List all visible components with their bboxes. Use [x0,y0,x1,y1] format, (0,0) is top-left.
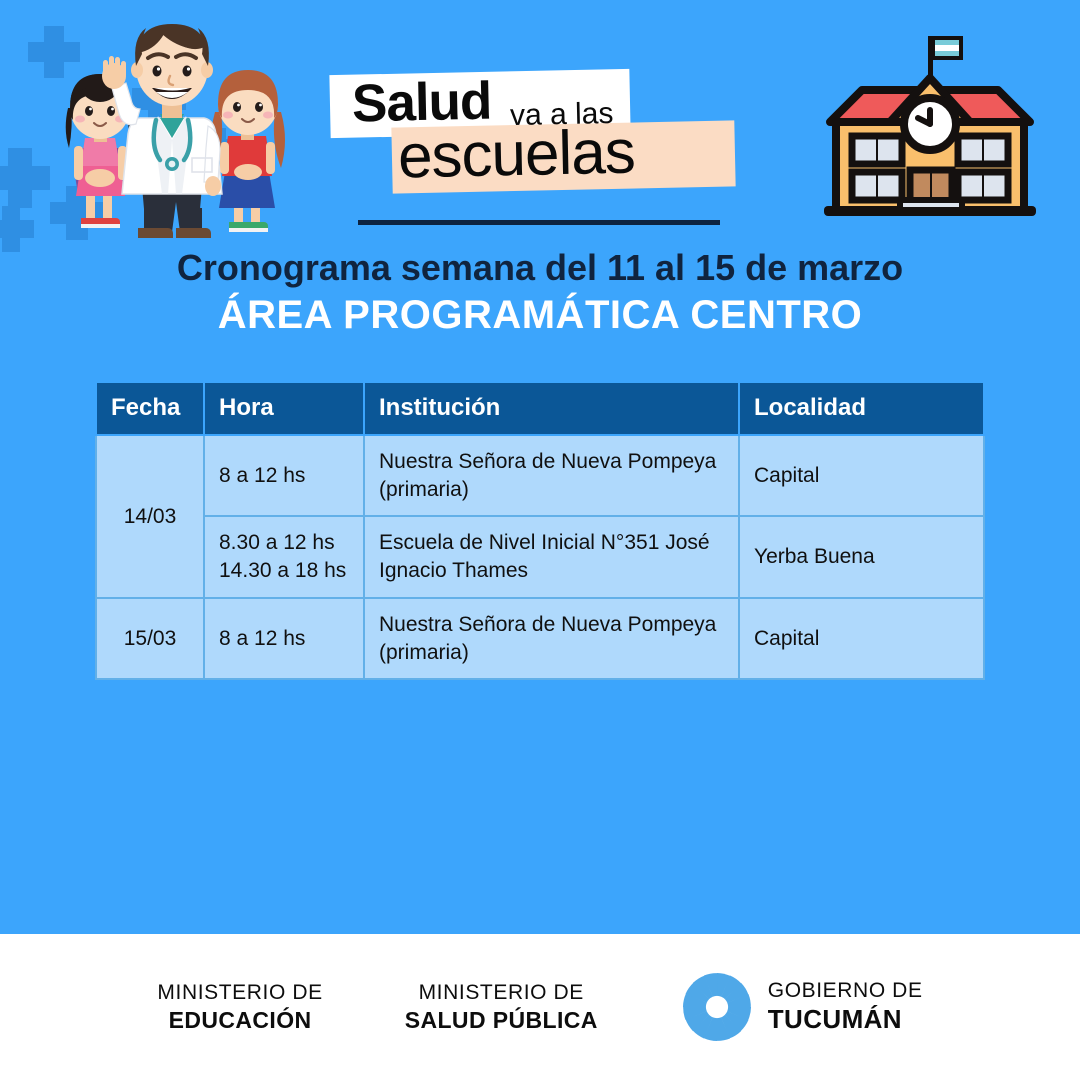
cell-institucion: Escuela de Nivel Inicial N°351 José Igna… [364,516,739,597]
cell-localidad: Capital [739,435,984,516]
table-row: 8.30 a 12 hs 14.30 a 18 hs Escuela de Ni… [96,516,984,597]
school-building-icon [806,24,1054,236]
doctor-and-children-illustration [52,8,302,258]
cell-localidad: Capital [739,598,984,679]
cell-fecha: 15/03 [96,598,204,679]
column-header-fecha: Fecha [96,382,204,435]
ministry-salud-publica-logo: MINISTERIO DE SALUD PÚBLICA [405,980,598,1034]
column-header-localidad: Localidad [739,382,984,435]
cell-hora: 8 a 12 hs [204,598,364,679]
column-header-hora: Hora [204,382,364,435]
gobierno-tucuman-logo: GOBIERNO DE TUCUMÁN [680,970,923,1044]
logo-divider-rule [358,220,720,225]
ministry-educacion-top: MINISTERIO DE [157,980,322,1006]
hero-panel: Salud va a las escuelas [0,0,1080,934]
gobierno-top: GOBIERNO DE [768,978,923,1004]
table-header-row: Fecha Hora Institución Localidad [96,382,984,435]
cell-institucion: Nuestra Señora de Nueva Pompeya (primari… [364,435,739,516]
logo-word-escuelas: escuelas [397,120,635,190]
poster-canvas: Salud va a las escuelas [0,0,1080,1080]
cell-fecha: 14/03 [96,435,204,598]
footer-bar: MINISTERIO DE EDUCACIÓN MINISTERIO DE SA… [0,934,1080,1080]
area-heading: ÁREA PROGRAMÁTICA CENTRO [0,293,1080,338]
cell-institucion: Nuestra Señora de Nueva Pompeya (primari… [364,598,739,679]
cell-localidad: Yerba Buena [739,516,984,597]
ministry-salud-bottom: SALUD PÚBLICA [405,1006,598,1034]
tucuman-sunburst-icon [680,970,754,1044]
cell-hora: 8.30 a 12 hs 14.30 a 18 hs [204,516,364,597]
ministry-educacion-logo: MINISTERIO DE EDUCACIÓN [157,980,322,1034]
table-row: 15/03 8 a 12 hs Nuestra Señora de Nueva … [96,598,984,679]
cell-hora: 8 a 12 hs [204,435,364,516]
ministry-salud-top: MINISTERIO DE [405,980,598,1006]
schedule-week-heading: Cronograma semana del 11 al 15 de marzo [0,247,1080,289]
brand-logo-lockup: Salud va a las escuelas [330,62,750,232]
column-header-institucion: Institución [364,382,739,435]
gobierno-bottom: TUCUMÁN [768,1004,923,1036]
schedule-table: Fecha Hora Institución Localidad 14/03 8… [95,381,985,680]
table-row: 14/03 8 a 12 hs Nuestra Señora de Nueva … [96,435,984,516]
ministry-educacion-bottom: EDUCACIÓN [157,1006,322,1034]
